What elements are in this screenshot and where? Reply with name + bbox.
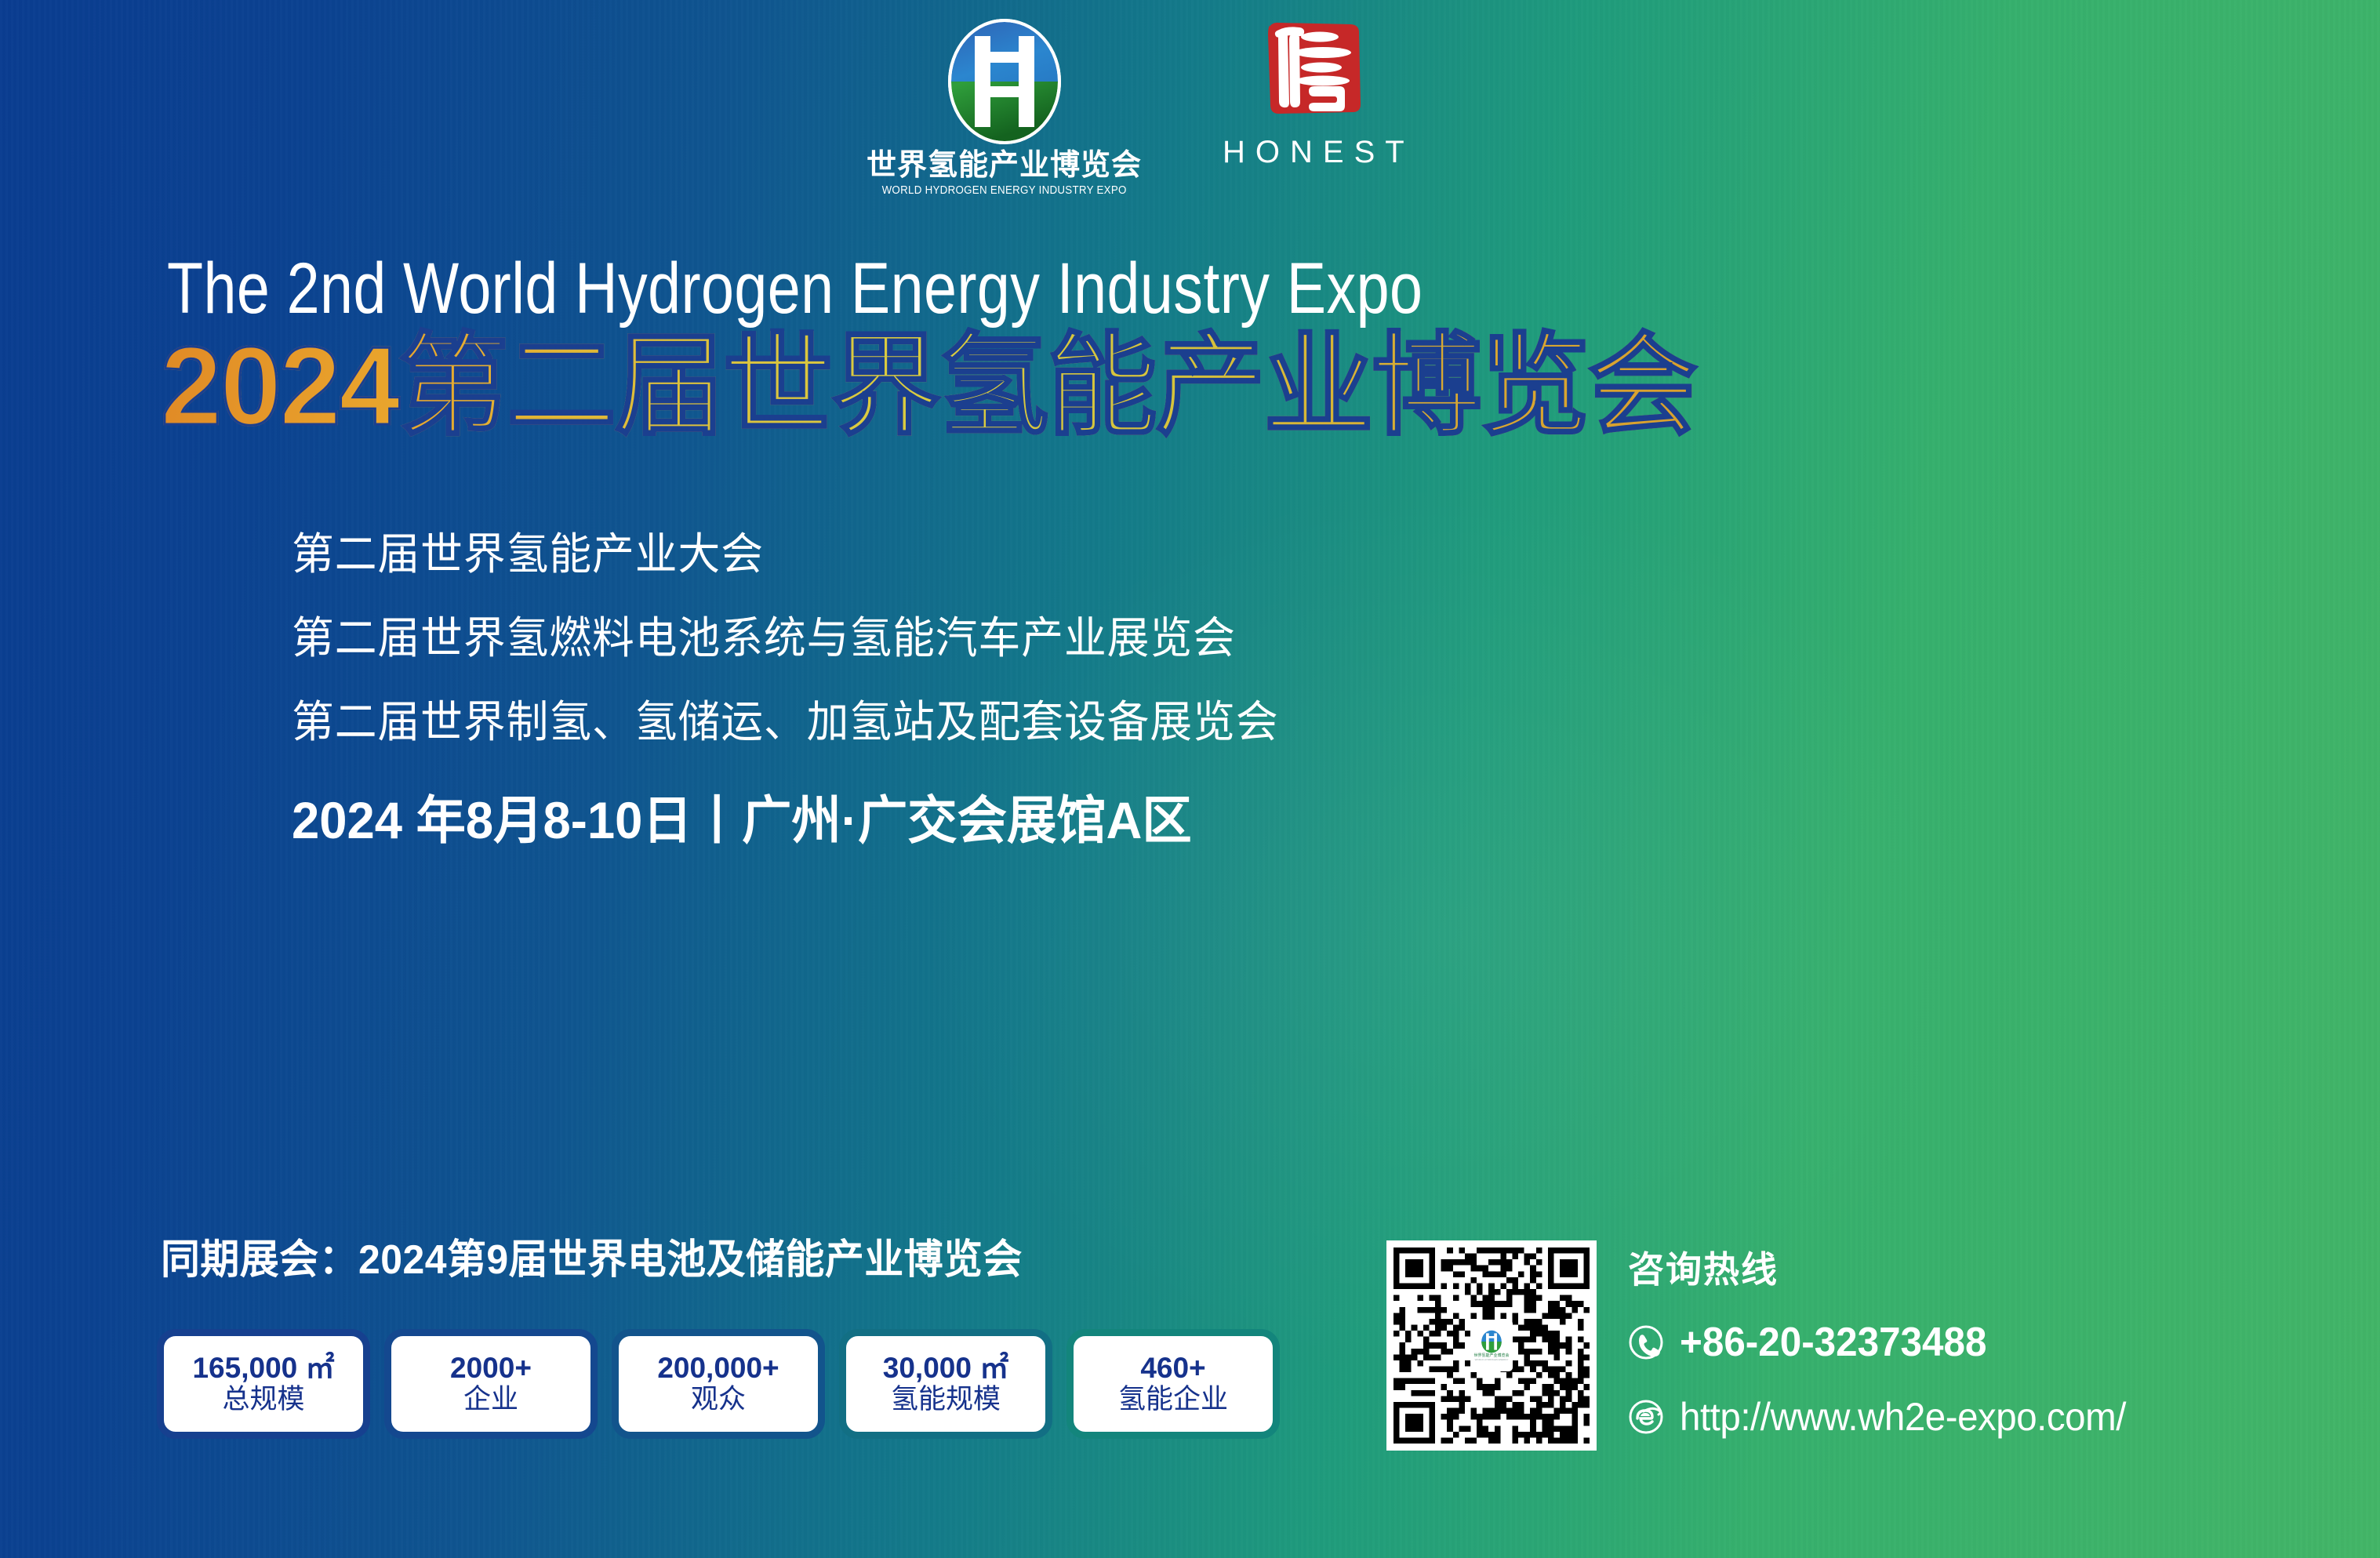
- stat-value: 460+: [1140, 1353, 1205, 1384]
- logo-row: 世界氢能产业博览会 WORLD HYDROGEN ENERGY INDUSTRY…: [867, 17, 1415, 197]
- phone-number: +86-20-32373488: [1680, 1322, 1986, 1363]
- poster-canvas: 世界氢能产业博览会 WORLD HYDROGEN ENERGY INDUSTRY…: [0, 0, 2380, 1558]
- stat-label: 总规模: [222, 1385, 304, 1415]
- date-and-venue: 2024 年8月8-10日丨广州·广交会展馆A区: [292, 794, 1192, 846]
- wh2e-logo-mark-icon: [947, 17, 1063, 146]
- title-english: The 2nd World Hydrogen Energy Industry E…: [167, 252, 1423, 325]
- website-url: http://www.wh2e-expo.com/: [1680, 1397, 2126, 1436]
- contact-block: 世界氢能产业博览会 WORLD HYDROGEN ENERGY 咨询热线 +86…: [1386, 1240, 2149, 1451]
- qr-code[interactable]: 世界氢能产业博览会 WORLD HYDROGEN ENERGY: [1386, 1240, 1597, 1451]
- stat-label: 氢能规模: [891, 1385, 1001, 1415]
- stat-value: 200,000+: [657, 1353, 779, 1384]
- globe-e-icon: [1628, 1399, 1664, 1435]
- contact-heading: 咨询热线: [1628, 1251, 2149, 1287]
- stat-badge: 165,000 ㎡ 总规模: [157, 1329, 370, 1439]
- stats-row: 165,000 ㎡ 总规模 2000+ 企业 200,000+ 观众 30,00…: [157, 1329, 1280, 1439]
- subtitle-line-3: 第二届世界制氢、氢储运、加氢站及配套设备展览会: [292, 700, 1279, 744]
- subtitle-line-2: 第二届世界氢燃料电池系统与氢能汽车产业展览会: [292, 616, 1236, 660]
- qr-center-logo: 世界氢能产业博览会 WORLD HYDROGEN ENERGY: [1470, 1320, 1513, 1371]
- expo-logo-en-name: WORLD HYDROGEN ENERGY INDUSTRY EXPO: [881, 185, 1126, 197]
- phone-row: +86-20-32373488: [1628, 1322, 2149, 1363]
- expo-logo-cn-name: 世界氢能产业博览会: [867, 151, 1142, 180]
- title-chinese: 2024第二届世界氢能产业博览会: [161, 331, 1696, 442]
- stat-badge: 200,000+ 观众: [612, 1329, 825, 1439]
- stat-value: 30,000 ㎡: [883, 1353, 1008, 1384]
- stat-badge: 2000+ 企业: [384, 1329, 598, 1439]
- stat-badge: 30,000 ㎡ 氢能规模: [839, 1329, 1052, 1439]
- subtitle-line-1: 第二届世界氢能产业大会: [292, 532, 764, 576]
- honest-wordmark: HONEST: [1212, 136, 1415, 168]
- stat-value: 165,000 ㎡: [192, 1353, 334, 1384]
- stat-badge: 460+ 氢能企业: [1066, 1329, 1280, 1439]
- phone-icon: [1628, 1324, 1664, 1360]
- stat-label: 氢能企业: [1118, 1385, 1228, 1415]
- expo-logo: 世界氢能产业博览会 WORLD HYDROGEN ENERGY INDUSTRY…: [867, 17, 1142, 197]
- concurrent-exhibition-line: 同期展会：2024第9届世界电池及储能产业博览会: [161, 1240, 1023, 1280]
- stat-label: 观众: [691, 1385, 746, 1415]
- contact-text: 咨询热线 +86-20-32373488: [1628, 1240, 2149, 1436]
- stat-value: 2000+: [450, 1353, 532, 1384]
- stat-label: 企业: [463, 1385, 518, 1415]
- website-row[interactable]: http://www.wh2e-expo.com/: [1628, 1397, 2149, 1436]
- honest-logo: HONEST: [1212, 17, 1415, 168]
- honest-seal-icon: [1262, 17, 1365, 121]
